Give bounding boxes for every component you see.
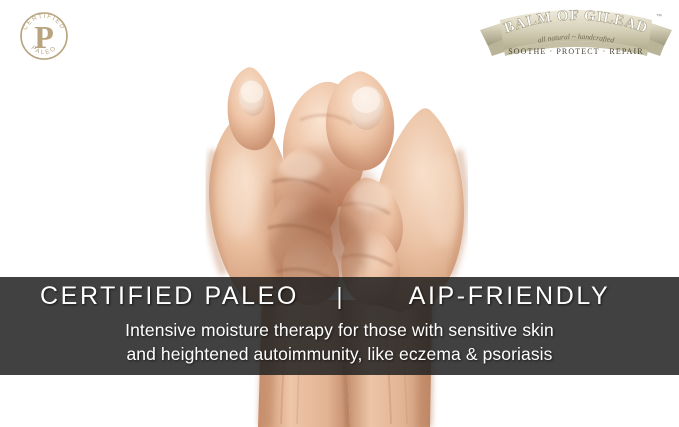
- balm-of-gilead-logo: BALM OF GILEAD ™ all natural ~ handcraft…: [478, 4, 674, 62]
- subcopy-block: Intensive moisture therapy for those wit…: [0, 318, 679, 366]
- logo-banner-tagline: SOOTHE · PROTECT · REPAIR: [508, 47, 644, 56]
- headline-divider: |: [320, 283, 360, 310]
- subcopy-line-1: Intensive moisture therapy for those wit…: [0, 318, 679, 342]
- headline-row: CERTIFIED PALEO | AIP-FRIENDLY: [0, 278, 679, 314]
- product-marketing-image: CERTIFIED PALEO P: [0, 0, 679, 427]
- logo-trademark: ™: [656, 13, 662, 20]
- certified-paleo-seal: CERTIFIED PALEO P: [14, 6, 74, 66]
- seal-center-letter: P: [34, 19, 54, 55]
- headline-certified-paleo: CERTIFIED PALEO: [20, 282, 320, 311]
- headline-aip-friendly: AIP-FRIENDLY: [360, 282, 660, 311]
- subcopy-line-2: and heightened autoimmunity, like eczema…: [0, 342, 679, 366]
